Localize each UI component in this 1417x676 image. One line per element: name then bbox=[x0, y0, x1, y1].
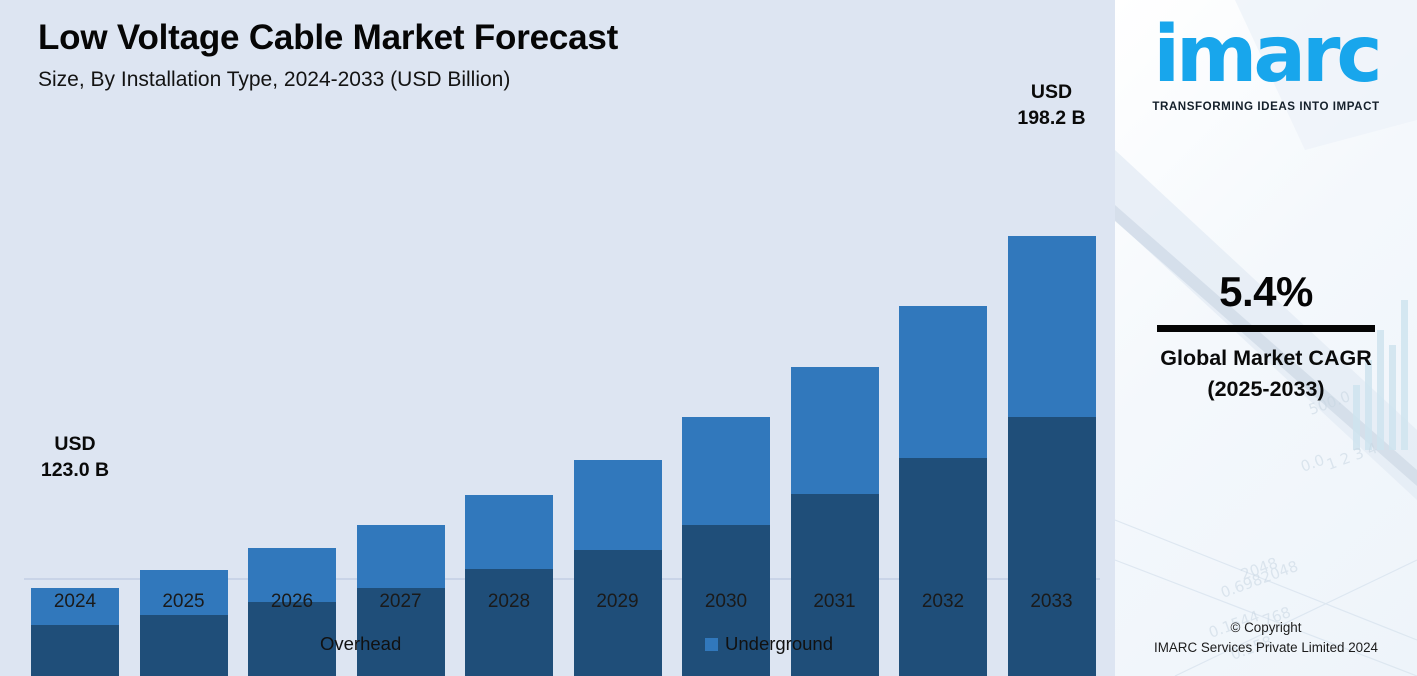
bar-group[interactable] bbox=[574, 98, 662, 676]
bar-group[interactable] bbox=[682, 98, 770, 676]
cagr-divider bbox=[1157, 325, 1375, 332]
bar-segment-overhead[interactable] bbox=[31, 625, 119, 676]
bar-value-label: USD198.2 B bbox=[977, 80, 1127, 131]
stacked-bar[interactable] bbox=[574, 460, 662, 676]
imarc-logo: imarc TRANSFORMING IDEAS INTO IMPACT bbox=[1115, 18, 1417, 113]
bar-segment-overhead[interactable] bbox=[465, 569, 553, 676]
bar-group[interactable] bbox=[791, 98, 879, 676]
cagr-label-line1: Global Market CAGR bbox=[1115, 343, 1417, 374]
x-axis-tick-2026: 2026 bbox=[232, 591, 352, 613]
svg-text:0.0: 0.0 bbox=[1298, 451, 1327, 476]
bar-group[interactable] bbox=[31, 98, 119, 676]
bar-segment-overhead[interactable] bbox=[140, 615, 228, 676]
x-axis-tick-2027: 2027 bbox=[341, 591, 461, 613]
chart-infographic: Low Voltage Cable Market Forecast Size, … bbox=[0, 0, 1417, 676]
bar-value-label: USD123.0 B bbox=[0, 432, 150, 483]
legend-swatch-underground bbox=[705, 638, 718, 651]
x-axis-tick-2031: 2031 bbox=[775, 591, 895, 613]
stacked-bar[interactable] bbox=[140, 570, 228, 676]
stacked-bar[interactable] bbox=[791, 367, 879, 676]
bar-segment-underground[interactable] bbox=[574, 460, 662, 550]
cagr-value: 5.4% bbox=[1115, 268, 1417, 316]
copyright-line2: IMARC Services Private Limited 2024 bbox=[1115, 638, 1417, 658]
bar-segment-overhead[interactable] bbox=[1008, 417, 1096, 676]
bar-segment-underground[interactable] bbox=[357, 525, 445, 588]
x-axis-tick-2024: 2024 bbox=[15, 591, 135, 613]
stacked-bar[interactable] bbox=[465, 495, 553, 676]
bar-value-label-line2: 198.2 B bbox=[977, 106, 1127, 132]
bar-group[interactable] bbox=[248, 98, 336, 676]
legend-item-underground[interactable]: Underground bbox=[705, 633, 833, 655]
svg-text:1 2 3 4: 1 2 3 4 bbox=[1324, 439, 1379, 474]
stacked-bar[interactable] bbox=[899, 306, 987, 676]
copyright-notice: © Copyright IMARC Services Private Limit… bbox=[1115, 618, 1417, 658]
legend-label-overhead: Overhead bbox=[320, 633, 401, 655]
imarc-logo-tagline: TRANSFORMING IDEAS INTO IMPACT bbox=[1115, 100, 1417, 113]
legend-label-underground: Underground bbox=[725, 633, 833, 655]
x-axis-tick-2030: 2030 bbox=[666, 591, 786, 613]
bar-value-label-line2: 123.0 B bbox=[0, 458, 150, 484]
bar-group[interactable] bbox=[1008, 98, 1096, 676]
bar-value-label-line1: USD bbox=[977, 80, 1127, 106]
bar-group[interactable] bbox=[899, 98, 987, 676]
copyright-line1: © Copyright bbox=[1115, 618, 1417, 638]
bar-segment-underground[interactable] bbox=[1008, 236, 1096, 417]
bar-value-label-line1: USD bbox=[0, 432, 150, 458]
legend-swatch-overhead bbox=[300, 638, 313, 651]
imarc-logo-wordmark: imarc bbox=[1115, 18, 1417, 92]
bar-group[interactable] bbox=[465, 98, 553, 676]
bar-segment-overhead[interactable] bbox=[574, 550, 662, 676]
bar-segment-underground[interactable] bbox=[682, 417, 770, 525]
bar-segment-underground[interactable] bbox=[791, 367, 879, 494]
cagr-callout: 5.4% Global Market CAGR (2025-2033) bbox=[1115, 268, 1417, 404]
x-axis-tick-2028: 2028 bbox=[449, 591, 569, 613]
x-axis-tick-2032: 2032 bbox=[883, 591, 1003, 613]
bar-segment-overhead[interactable] bbox=[899, 458, 987, 676]
x-axis-tick-2033: 2033 bbox=[992, 591, 1112, 613]
bar-segment-underground[interactable] bbox=[465, 495, 553, 569]
brand-panel: 500.0 0.0 1 2 3 4 2048 0.6982048 0.1544 … bbox=[1115, 0, 1417, 676]
x-axis-tick-2025: 2025 bbox=[124, 591, 244, 613]
x-axis-tick-2029: 2029 bbox=[558, 591, 678, 613]
legend-item-overhead[interactable]: Overhead bbox=[300, 633, 401, 655]
plot-area: USD123.0 BUSD198.2 B 2024202520262027202… bbox=[0, 0, 1115, 676]
bar-segment-underground[interactable] bbox=[899, 306, 987, 458]
bar-group[interactable] bbox=[140, 98, 228, 676]
chart-panel: Low Voltage Cable Market Forecast Size, … bbox=[0, 0, 1115, 676]
cagr-label-line2: (2025-2033) bbox=[1115, 374, 1417, 405]
bar-group[interactable] bbox=[357, 98, 445, 676]
